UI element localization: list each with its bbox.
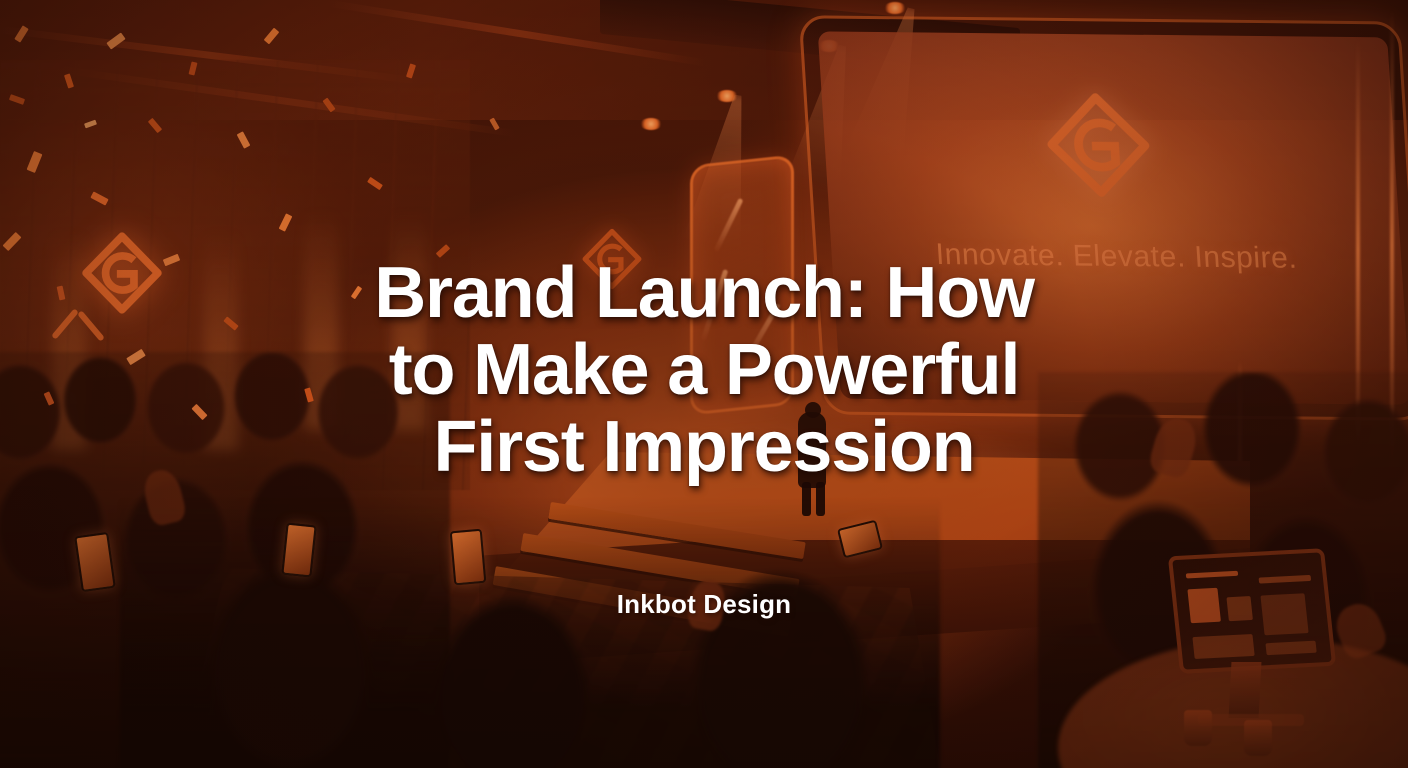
- text-overlay: Brand Launch: How to Make a Powerful Fir…: [0, 0, 1408, 768]
- byline: Inkbot Design: [617, 589, 792, 620]
- hero-banner: Innovate. Elevate. Inspire.: [0, 0, 1408, 768]
- page-title: Brand Launch: How to Make a Powerful Fir…: [204, 255, 1204, 486]
